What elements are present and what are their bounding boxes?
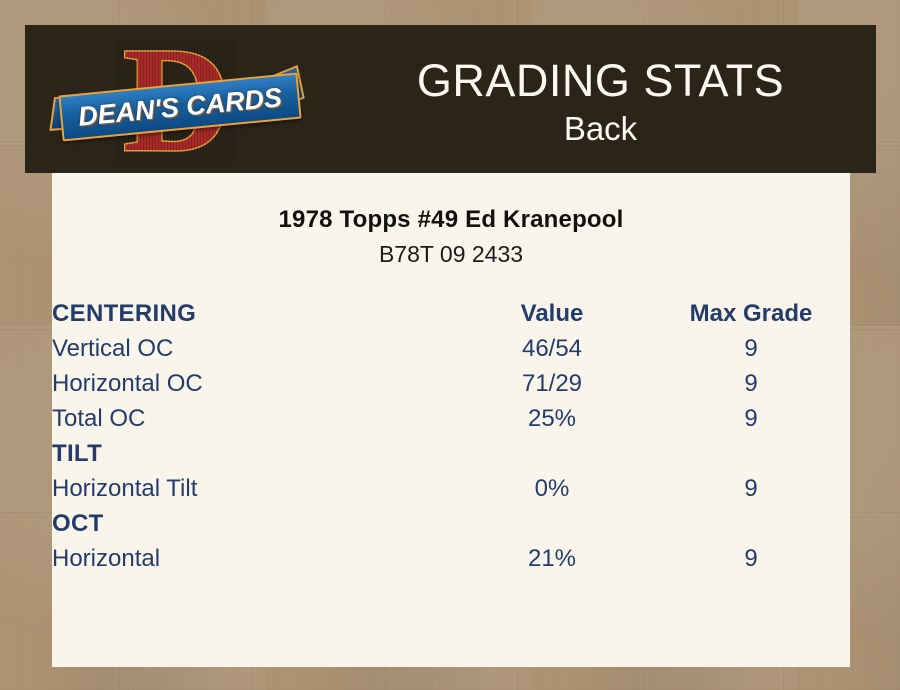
- grading-stats-table: CENTERINGValueMax GradeVertical OC46/549…: [52, 296, 850, 576]
- stat-value: 25%: [452, 401, 652, 436]
- card-code: B78T 09 2433: [52, 241, 850, 268]
- stat-max-grade: 9: [652, 331, 850, 366]
- section-heading: OCT: [52, 506, 452, 541]
- stat-value: 21%: [452, 541, 652, 576]
- stat-value: 46/54: [452, 331, 652, 366]
- stat-value: 0%: [452, 471, 652, 506]
- stat-label: Horizontal Tilt: [52, 471, 452, 506]
- stat-max-grade: 9: [652, 401, 850, 436]
- table-row: Horizontal Tilt0%9: [52, 471, 850, 506]
- content-panel: 1978 Topps #49 Ed Kranepool B78T 09 2433…: [52, 173, 850, 667]
- stat-value: 71/29: [452, 366, 652, 401]
- section-row-oct: OCT: [52, 506, 850, 541]
- stat-max-grade: 9: [652, 366, 850, 401]
- page-title: GRADING STATS: [417, 54, 784, 108]
- column-header-max-grade: Max Grade: [652, 296, 850, 331]
- section-heading: CENTERING: [52, 296, 452, 331]
- table-row: Vertical OC46/549: [52, 331, 850, 366]
- header-title-group: GRADING STATS Back: [325, 25, 876, 173]
- table-row: Horizontal OC71/299: [52, 366, 850, 401]
- stat-max-grade: 9: [652, 541, 850, 576]
- section-row-tilt: TILT: [52, 436, 850, 471]
- stat-max-grade: 9: [652, 471, 850, 506]
- card-title: 1978 Topps #49 Ed Kranepool: [52, 206, 850, 234]
- section-row-centering: CENTERINGValueMax Grade: [52, 296, 850, 331]
- stat-label: Total OC: [52, 401, 452, 436]
- stat-label: Horizontal OC: [52, 366, 452, 401]
- table-row: Horizontal21%9: [52, 541, 850, 576]
- deans-cards-logo[interactable]: D DEAN'S CARDS: [60, 30, 300, 170]
- section-heading: TILT: [52, 436, 452, 471]
- column-header-value: Value: [452, 296, 652, 331]
- table-row: Total OC25%9: [52, 401, 850, 436]
- page-subtitle: Back: [564, 108, 637, 150]
- header-bar: D DEAN'S CARDS GRADING STATS Back: [25, 25, 876, 173]
- stat-label: Vertical OC: [52, 331, 452, 366]
- stat-label: Horizontal: [52, 541, 452, 576]
